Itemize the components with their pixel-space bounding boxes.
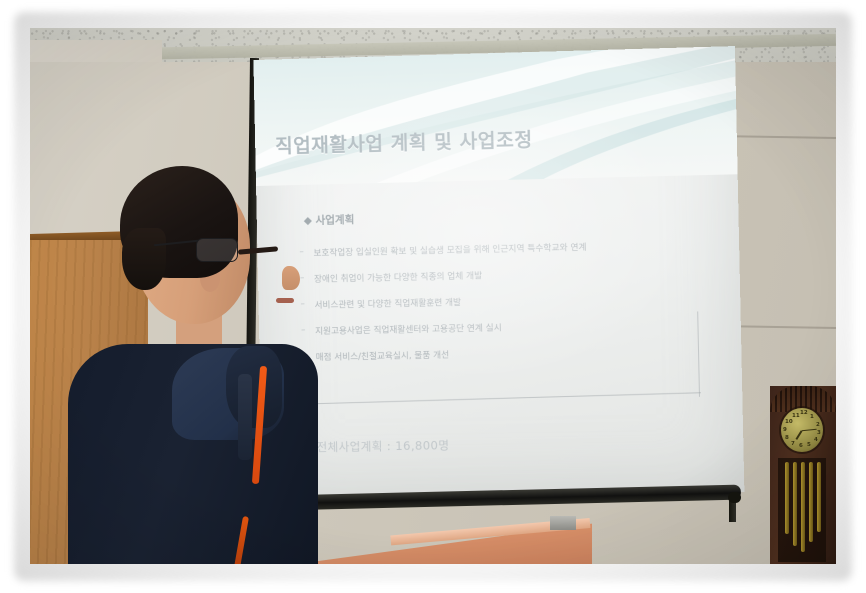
eyeglass-lens — [196, 238, 238, 262]
bullet-text: 장애인 취업이 가능한 다양한 직종의 업체 개발 — [314, 271, 482, 285]
clock-numeral: 10 — [785, 419, 793, 425]
slide-header-band: 직업재활사업 계획 및 사업조정 — [253, 46, 737, 186]
clock-numeral: 5 — [807, 442, 811, 448]
clock-chime-rod — [809, 462, 813, 542]
clock-numeral: 7 — [791, 441, 795, 447]
clock-chime-rod — [801, 462, 805, 552]
meeting-room-scene: 12 1 2 3 4 5 6 7 8 9 10 11 — [30, 28, 836, 564]
clock-chime-rod — [785, 462, 789, 534]
slide-swoosh-graphic — [253, 46, 737, 186]
bullet-text: 보호작업장 입실인원 확보 및 실습생 모집을 위해 인근지역 특수학교와 연계 — [313, 243, 586, 259]
clock-numeral: 11 — [792, 413, 800, 419]
clock-numeral: 1 — [810, 414, 814, 420]
slide-bullet: – 장애인 취업이 가능한 다양한 직종의 업체 개발 — [314, 269, 482, 285]
clock-hour-hand — [796, 431, 803, 440]
projection-screen: 직업재활사업 계획 및 사업조정 ◆ 사업계획 – 보호작업장 입실인원 확보 … — [250, 34, 740, 516]
slide-divider-rule-vertical — [697, 311, 700, 396]
bullet-text: 매점 서비스/친절교육실시, 물품 개선 — [316, 351, 450, 363]
nose — [282, 266, 300, 290]
slide-divider-rule — [283, 392, 701, 405]
slide-total-line: 전체사업계획 : 16,800명 — [316, 437, 449, 455]
bullet-text: 서비스관련 및 다양한 직업재활훈련 개발 — [315, 298, 462, 311]
clock-numeral: 8 — [785, 435, 789, 441]
clock-face: 12 1 2 3 4 5 6 7 8 9 10 11 — [781, 408, 823, 452]
clock-chime-rod — [817, 462, 821, 532]
clock-chime-rod — [793, 462, 797, 546]
eyeglasses — [180, 238, 252, 262]
jacket-collar — [226, 346, 282, 428]
photograph: 12 1 2 3 4 5 6 7 8 9 10 11 — [30, 28, 836, 564]
bullet-text: 지원고용사업은 직업재활센터와 고용공단 연계 실시 — [315, 323, 502, 337]
clock-numeral: 3 — [817, 430, 821, 436]
screen-bar-end-cap — [728, 492, 741, 503]
presenter — [88, 166, 318, 564]
clock-minute-hand — [802, 429, 817, 432]
clock-numeral: 4 — [814, 437, 818, 443]
grandfather-clock: 12 1 2 3 4 5 6 7 8 9 10 11 — [770, 386, 836, 564]
clock-numeral: 9 — [783, 427, 787, 433]
hair-sideburn — [122, 228, 166, 290]
lectern-end-cap — [550, 516, 576, 530]
mouth — [276, 298, 294, 303]
jacket-placket — [238, 374, 252, 460]
projected-slide: 직업재활사업 계획 및 사업조정 ◆ 사업계획 – 보호작업장 입실인원 확보 … — [253, 46, 744, 498]
photo-frame: 12 1 2 3 4 5 6 7 8 9 10 11 — [0, 0, 866, 593]
slide-bullet: – 서비스관련 및 다양한 직업재활훈련 개발 — [314, 296, 461, 311]
slide-bullet: – 지원고용사업은 직업재활센터와 고용공단 연계 실시 — [315, 321, 502, 337]
slide-bullet: – 보호작업장 입실인원 확보 및 실습생 모집을 위해 인근지역 특수학교와 … — [313, 241, 586, 259]
clock-numeral: 2 — [816, 422, 820, 428]
clock-numeral: 6 — [799, 443, 803, 449]
slide-bullet: – 매점 서비스/친절교육실시, 물품 개선 — [316, 349, 450, 363]
clock-numeral: 12 — [800, 410, 808, 416]
clock-pendulum-cabinet — [778, 458, 826, 562]
slide-body: ◆ 사업계획 – 보호작업장 입실인원 확보 및 실습생 모집을 위해 인근지역… — [256, 178, 744, 498]
